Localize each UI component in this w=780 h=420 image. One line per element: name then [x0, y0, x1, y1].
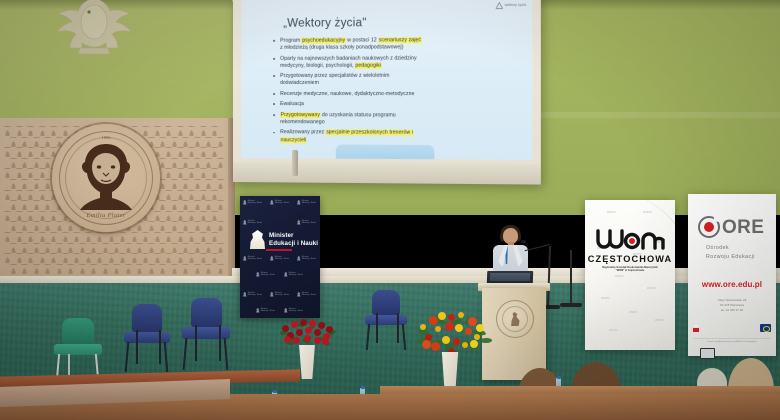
damask-motif — [171, 243, 178, 253]
flower-bloom — [455, 324, 463, 332]
damask-motif — [159, 243, 166, 253]
damask-motif — [4, 190, 11, 200]
chair-leg — [195, 325, 197, 361]
flower-bloom — [453, 338, 460, 345]
damask-motif — [159, 264, 166, 274]
damask-motif — [125, 243, 132, 253]
flower-bloom — [429, 316, 438, 325]
ministry-tile-eagle-icon — [297, 292, 301, 297]
damask-motif — [211, 126, 218, 136]
ministry-backdrop: Minister Edukacji i Nauki MinisterEdukac… — [240, 196, 320, 318]
ministry-tile-eagle-icon — [256, 308, 260, 313]
ministry-tile-text: MinisterEdukacji i Nauki — [275, 256, 289, 260]
damask-motif — [4, 253, 11, 263]
rose-bloom — [282, 325, 289, 332]
ore-footer-logos — [693, 322, 771, 334]
ministry-tile-eagle-icon — [243, 292, 247, 297]
damask-motif — [73, 232, 80, 242]
chair-leg — [366, 324, 370, 350]
damask-motif — [16, 232, 23, 242]
damask-motif — [21, 158, 28, 168]
ministry-logo-tile: MinisterEdukacji i Nauki — [256, 308, 275, 313]
damask-motif — [131, 232, 138, 242]
damask-motif — [159, 158, 166, 168]
ministry-tile-eagle-icon — [284, 308, 288, 313]
damask-motif — [44, 264, 51, 274]
damask-motif — [16, 126, 23, 136]
rose-bloom — [291, 321, 298, 328]
damask-motif — [90, 264, 97, 274]
chair-blue-3 — [364, 290, 410, 356]
ore-address-line3: tel. 22 345 37 00 — [688, 308, 776, 313]
rose-bloom — [326, 326, 333, 333]
damask-motif — [188, 126, 195, 136]
ore-rollup-banner: ORE Ośrodek Rozwoju Edukacji www.ore.edu… — [688, 194, 776, 356]
ministry-tile-eagle-icon — [270, 200, 274, 205]
damask-motif — [85, 253, 92, 263]
damask-motif — [102, 243, 109, 253]
triangle-logo-icon — [495, 2, 502, 9]
chair-leg — [397, 313, 399, 343]
ore-target-icon — [698, 216, 720, 238]
ministry-tile-text: MinisterEdukacji i Nauki — [302, 200, 316, 204]
damask-motif — [142, 232, 149, 242]
wom-watermark: wom — [643, 210, 652, 214]
damask-motif — [67, 221, 74, 231]
flower-bloom — [431, 342, 440, 351]
damask-motif — [200, 168, 207, 178]
chair-leg — [164, 342, 168, 372]
ministry-tile-text: MinisterEdukacji i Nauki — [248, 200, 262, 204]
damask-motif — [177, 126, 184, 136]
damask-motif — [21, 221, 28, 231]
wom-watermark: wom — [615, 274, 624, 278]
damask-motif — [142, 253, 149, 263]
bottle-cap — [557, 376, 561, 379]
damask-motif — [159, 179, 166, 189]
damask-motif — [182, 179, 189, 189]
damask-motif — [16, 168, 23, 178]
ministry-tile-text: MinisterEdukacji i Nauki — [275, 292, 289, 296]
damask-motif — [10, 264, 17, 274]
damask-motif — [136, 264, 143, 274]
ministry-logo-tile: MinisterEdukacji i Nauki — [270, 256, 289, 261]
flower-bloom — [468, 317, 477, 326]
damask-motif — [27, 126, 34, 136]
damask-motif — [33, 221, 40, 231]
medallion-caption: Emilia Plater — [52, 212, 160, 219]
damask-motif — [113, 243, 120, 253]
damask-motif — [177, 253, 184, 263]
damask-motif — [217, 243, 224, 253]
damask-motif — [27, 232, 34, 242]
damask-motif — [211, 190, 218, 200]
screen-roller — [292, 150, 298, 176]
projected-slide: wektory życia „Wektory życia" Program ps… — [241, 0, 532, 160]
slide-bullet: Przygotowywany do uzyskania statusu prog… — [273, 112, 520, 127]
ministry-logo-tile: MinisterEdukacji i Nauki — [284, 308, 303, 313]
damask-motif — [200, 190, 207, 200]
damask-motif — [165, 232, 172, 242]
damask-motif — [182, 243, 189, 253]
ministry-tile-eagle-icon — [243, 256, 247, 261]
damask-motif — [44, 221, 51, 231]
damask-motif — [62, 253, 69, 263]
damask-motif — [159, 137, 166, 147]
damask-motif — [200, 253, 207, 263]
ore-website-url[interactable]: www.ore.edu.pl — [688, 280, 776, 289]
wom-city-name: CZĘSTOCHOWA — [585, 254, 675, 264]
ore-subtitle-line2: Rozwoju Edukacji — [706, 253, 755, 262]
damask-motif — [119, 253, 126, 263]
ministry-logo-tile: MinisterEdukacji i Nauki — [243, 220, 262, 225]
ministry-logo-tile: MinisterEdukacji i Nauki — [297, 220, 316, 225]
damask-motif — [4, 126, 11, 136]
damask-motif — [16, 211, 23, 221]
damask-motif — [211, 211, 218, 221]
damask-motif — [205, 264, 212, 274]
wom-swirl-graphic — [585, 200, 675, 350]
damask-motif — [39, 211, 46, 221]
ore-address: Aleje Ujazdowskie 28 00-478 Warszawa tel… — [688, 298, 776, 312]
damask-motif — [79, 264, 86, 274]
damask-motif — [39, 168, 46, 178]
wom-watermark: wom — [607, 210, 616, 214]
medallion-portrait-icon — [74, 140, 138, 214]
chair-back — [62, 318, 94, 344]
damask-motif — [188, 147, 195, 157]
mixed-flower-bouquet — [414, 310, 488, 358]
laptop-screen — [490, 273, 530, 281]
chair-leg — [136, 330, 138, 364]
conference-hall-photo: 1806 Emilia Plater wektory życia „Wektor… — [0, 0, 780, 420]
damask-motif — [44, 137, 51, 147]
damask-motif — [148, 264, 155, 274]
ministry-tile-eagle-icon — [297, 200, 301, 205]
ministry-tile-eagle-icon — [243, 220, 247, 225]
damask-motif — [39, 147, 46, 157]
ministry-tile-eagle-icon — [297, 256, 301, 261]
chair-leg — [159, 330, 161, 364]
chair-leg — [125, 342, 129, 372]
rose-bloom — [314, 329, 321, 336]
flower-bloom — [438, 312, 446, 320]
ministry-tile-text: MinisterEdukacji i Nauki — [248, 292, 262, 296]
wom-subtitle-line2: "WOM" w Częstochowie — [591, 269, 669, 272]
damask-motif — [27, 147, 34, 157]
flower-bloom — [476, 324, 484, 332]
chair-leg — [219, 325, 221, 361]
ministry-line2: Edukacji i Nauki — [269, 240, 318, 248]
damask-motif — [182, 264, 189, 274]
ore-footer-note: Projekt współfinansowany ze środków Unii… — [688, 341, 776, 343]
ministry-line1: Minister — [269, 232, 318, 240]
damask-motif — [39, 253, 46, 263]
damask-motif — [205, 200, 212, 210]
damask-motif — [188, 253, 195, 263]
damask-motif — [33, 179, 40, 189]
damask-motif — [194, 200, 201, 210]
damask-motif — [119, 232, 126, 242]
damask-motif — [188, 211, 195, 221]
rose-bloom — [305, 327, 312, 334]
slide-bullet: Recenzje medyczne, naukowe, dydaktyczno-… — [273, 91, 520, 98]
podium — [482, 288, 546, 380]
damask-motif — [44, 200, 51, 210]
rose-bloom — [300, 319, 307, 326]
damask-motif — [10, 221, 17, 231]
damask-motif — [27, 190, 34, 200]
damask-motif — [67, 264, 74, 274]
flower-bloom — [435, 326, 441, 332]
damask-motif — [16, 253, 23, 263]
ministry-logo-tile: MinisterEdukacji i Nauki — [243, 256, 262, 261]
damask-motif — [10, 158, 17, 168]
damask-motif — [108, 253, 115, 263]
speaker-person — [487, 228, 533, 276]
damask-motif — [165, 211, 172, 221]
wom-watermark: wom — [629, 310, 638, 314]
damask-motif — [194, 221, 201, 231]
damask-motif — [217, 137, 224, 147]
ministry-logo-tile: MinisterEdukacji i Nauki — [297, 200, 316, 205]
damask-motif — [96, 253, 103, 263]
damask-motif — [10, 243, 17, 253]
damask-motif — [217, 200, 224, 210]
flower-bloom — [462, 342, 468, 348]
damask-motif — [165, 190, 172, 200]
wall-medallion: 1806 Emilia Plater — [52, 124, 160, 232]
damask-motif — [188, 190, 195, 200]
chair-leg — [224, 338, 229, 370]
chair-blue-1 — [122, 304, 174, 376]
damask-motif — [27, 211, 34, 221]
damask-motif — [217, 264, 224, 274]
damask-motif — [182, 221, 189, 231]
damask-motif — [148, 221, 155, 231]
damask-motif — [10, 137, 17, 147]
eu-flag-icon — [760, 324, 771, 332]
rose-bloom — [304, 335, 311, 342]
damask-motif — [56, 243, 63, 253]
ministry-logo-text: Minister Edukacji i Nauki — [269, 232, 318, 248]
damask-motif — [73, 253, 80, 263]
damask-motif — [44, 179, 51, 189]
ministry-logo-tile: MinisterEdukacji i Nauki — [284, 272, 303, 277]
damask-motif — [177, 168, 184, 178]
damask-motif — [177, 211, 184, 221]
damask-motif — [33, 243, 40, 253]
chair-back — [191, 298, 222, 327]
ore-target-dot — [704, 222, 714, 232]
damask-motif — [177, 232, 184, 242]
damask-motif — [39, 232, 46, 242]
microphone-stand-2 — [570, 250, 572, 305]
ministry-tile-eagle-icon — [270, 292, 274, 297]
damask-motif — [56, 221, 63, 231]
wom-watermark: wom — [647, 286, 656, 290]
damask-motif — [16, 147, 23, 157]
damask-motif — [85, 232, 92, 242]
damask-motif — [171, 221, 178, 231]
damask-motif — [182, 158, 189, 168]
bottle-cap — [361, 386, 365, 389]
slide-bullet-list: Program psychoedukacyjny w postaci 12 sc… — [273, 37, 520, 149]
damask-motif — [50, 232, 57, 242]
chair-leg — [402, 324, 406, 350]
damask-motif — [165, 253, 172, 263]
ministry-tile-eagle-icon — [256, 272, 260, 277]
damask-motif — [148, 243, 155, 253]
ministry-logo-tile: MinisterEdukacji i Nauki — [256, 272, 275, 277]
wom-logo-icon — [594, 226, 666, 252]
ministry-tile-text: MinisterEdukacji i Nauki — [302, 220, 316, 224]
damask-motif — [205, 221, 212, 231]
chair-seat — [365, 315, 407, 325]
microphone-base-2 — [560, 303, 582, 307]
damask-motif — [205, 158, 212, 168]
ministry-logo-tile: MinisterEdukacji i Nauki — [297, 256, 316, 261]
damask-motif — [194, 243, 201, 253]
ore-subtitle: Ośrodek Rozwoju Edukacji — [706, 244, 755, 262]
damask-motif — [205, 137, 212, 147]
projection-screen: wektory życia „Wektory życia" Program ps… — [233, 0, 541, 185]
damask-motif — [33, 158, 40, 168]
chair-back — [372, 290, 400, 315]
damask-motif — [205, 179, 212, 189]
ministry-logo-tile: MinisterEdukacji i Nauki — [297, 292, 316, 297]
damask-motif — [79, 243, 86, 253]
damask-motif — [171, 264, 178, 274]
damask-motif — [136, 243, 143, 253]
ore-footer-logo-left — [693, 324, 699, 332]
damask-motif — [4, 168, 11, 178]
damask-motif — [154, 253, 161, 263]
damask-motif — [165, 168, 172, 178]
slide-bullet: Przygotowany przez specjalistów z wielol… — [273, 73, 520, 88]
ministry-tile-eagle-icon — [297, 220, 301, 225]
damask-motif — [136, 221, 143, 231]
damask-motif — [56, 264, 63, 274]
damask-motif — [171, 200, 178, 210]
polish-eagle-emblem-icon — [46, 0, 142, 58]
damask-motif — [177, 147, 184, 157]
damask-motif — [211, 253, 218, 263]
ministry-accent-rule — [266, 249, 292, 251]
damask-motif — [44, 243, 51, 253]
wom-watermark: wom — [601, 296, 610, 300]
rose-bloom — [322, 338, 329, 345]
damask-motif — [21, 137, 28, 147]
damask-motif — [211, 168, 218, 178]
damask-motif — [171, 179, 178, 189]
ministry-tile-text: MinisterEdukacji i Nauki — [302, 256, 316, 260]
flower-bloom — [442, 336, 450, 344]
slide-bullet: Ewaluacja — [273, 101, 520, 109]
damask-motif — [96, 232, 103, 242]
damask-motif — [33, 264, 40, 274]
ministry-logo-tile: MinisterEdukacji i Nauki — [243, 292, 262, 297]
damask-motif — [194, 179, 201, 189]
damask-motif — [211, 147, 218, 157]
damask-motif — [154, 232, 161, 242]
damask-motif — [171, 158, 178, 168]
wom-watermark: wom — [609, 328, 618, 332]
damask-motif — [200, 126, 207, 136]
damask-motif — [211, 232, 218, 242]
damask-motif — [33, 137, 40, 147]
smartphone-camera — [700, 348, 715, 359]
damask-motif — [10, 200, 17, 210]
rose-bloom — [293, 337, 300, 344]
slide-bullet: Realizowany przez specjalnie przeszkolon… — [273, 129, 520, 145]
ore-subtitle-line1: Ośrodek — [706, 244, 755, 253]
slide-logo-text: wektory życia — [505, 3, 526, 7]
damask-motif — [188, 168, 195, 178]
damask-motif — [194, 137, 201, 147]
ministry-tile-text: MinisterEdukacji i Nauki — [302, 292, 316, 296]
damask-motif — [205, 243, 212, 253]
flag-icon — [693, 324, 699, 332]
damask-motif — [4, 211, 11, 221]
damask-motif — [33, 200, 40, 210]
damask-motif — [50, 253, 57, 263]
slide-bullet: Program psychoedukacyjny w postaci 12 sc… — [273, 37, 520, 53]
microphone-head — [521, 240, 526, 243]
rose-bloom — [309, 320, 316, 327]
damask-motif — [21, 243, 28, 253]
damask-motif — [4, 232, 11, 242]
damask-motif — [177, 190, 184, 200]
damask-motif — [200, 232, 207, 242]
ministry-tile-text: MinisterEdukacji i Nauki — [289, 308, 303, 312]
rose-bloom — [296, 329, 303, 336]
damask-motif — [182, 200, 189, 210]
wom-watermark: wom — [655, 318, 664, 322]
damask-motif — [21, 179, 28, 189]
damask-motif — [159, 200, 166, 210]
ministry-tile-text: MinisterEdukacji i Nauki — [275, 200, 289, 204]
rose-bloom — [284, 336, 291, 343]
slide-logo: wektory życia — [495, 2, 526, 9]
screen-bottom-bar — [233, 162, 541, 185]
damask-motif — [182, 137, 189, 147]
ministry-tile-text: MinisterEdukacji i Nauki — [248, 220, 262, 224]
chair-blue-2 — [180, 298, 234, 376]
damask-motif — [194, 158, 201, 168]
flower-bloom — [420, 324, 426, 330]
damask-motif — [90, 243, 97, 253]
damask-motif — [159, 221, 166, 231]
damask-motif — [102, 264, 109, 274]
flower-bloom — [474, 334, 480, 340]
damask-motif — [113, 264, 120, 274]
damask-motif — [67, 243, 74, 253]
chair-leg — [183, 338, 188, 370]
damask-motif — [21, 200, 28, 210]
damask-motif — [16, 190, 23, 200]
chair-green — [52, 318, 104, 380]
flower-bloom — [470, 340, 478, 348]
ore-logo: ORE — [698, 216, 764, 238]
ministry-logo-tile: MinisterEdukacji i Nauki — [270, 292, 289, 297]
ore-footer-rule — [693, 338, 771, 339]
flower-bloom — [458, 312, 464, 318]
damask-motif — [131, 253, 138, 263]
ore-acronym: ORE — [722, 218, 764, 237]
damask-motif — [39, 190, 46, 200]
damask-motif — [217, 221, 224, 231]
